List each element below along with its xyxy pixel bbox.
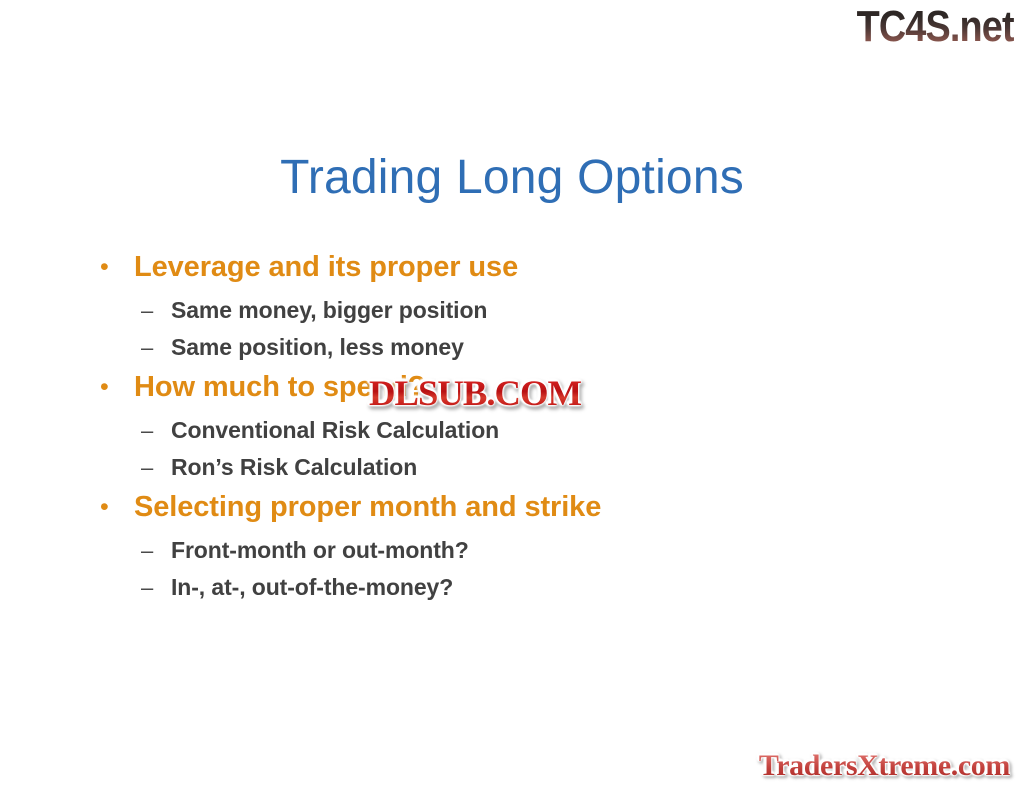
bullet-group: • Leverage and its proper use – Same mon… <box>96 248 956 365</box>
page-title: Trading Long Options <box>0 150 1024 206</box>
bullet-level1-label: Selecting proper month and strike <box>134 488 601 526</box>
bullet-level2: – Front-month or out-month? <box>96 534 956 568</box>
bullet-dot-icon: • <box>96 248 134 286</box>
bullet-level1-label: Leverage and its proper use <box>134 248 518 286</box>
bullet-dash-icon: – <box>141 571 171 604</box>
tc4s-logo: TC4S.net <box>857 2 1014 52</box>
bullet-level2-label: Conventional Risk Calculation <box>171 414 499 447</box>
bullet-dash-icon: – <box>141 451 171 484</box>
bullet-dash-icon: – <box>141 414 171 447</box>
bullet-dash-icon: – <box>141 331 171 364</box>
bullet-dot-icon: • <box>96 368 134 406</box>
bullet-level2: – In-, at-, out-of-the-money? <box>96 571 956 605</box>
bullet-level2: – Same money, bigger position <box>96 294 956 328</box>
slide-canvas: TC4S.net Trading Long Options • Leverage… <box>0 0 1024 791</box>
tradersxtreme-logo: TradersXtreme.com <box>759 749 1010 783</box>
bullet-level1: • Selecting proper month and strike <box>96 488 956 528</box>
bullet-level2: – Conventional Risk Calculation <box>96 414 956 448</box>
bullet-level2-label: In-, at-, out-of-the-money? <box>171 571 453 604</box>
bullet-list: • Leverage and its proper use – Same mon… <box>96 248 956 608</box>
bullet-level1: • Leverage and its proper use <box>96 248 956 288</box>
bullet-dot-icon: • <box>96 488 134 526</box>
bullet-dash-icon: – <box>141 294 171 327</box>
bullet-level2-label: Ron’s Risk Calculation <box>171 451 417 484</box>
bullet-level2: – Same position, less money <box>96 331 956 365</box>
bullet-level2-label: Same position, less money <box>171 331 464 364</box>
bullet-level2-label: Same money, bigger position <box>171 294 487 327</box>
bullet-level2-label: Front-month or out-month? <box>171 534 469 567</box>
bullet-dash-icon: – <box>141 534 171 567</box>
bullet-group: • Selecting proper month and strike – Fr… <box>96 488 956 605</box>
dlsub-watermark: DLSUB.COM <box>369 374 581 412</box>
bullet-level2: – Ron’s Risk Calculation <box>96 451 956 485</box>
